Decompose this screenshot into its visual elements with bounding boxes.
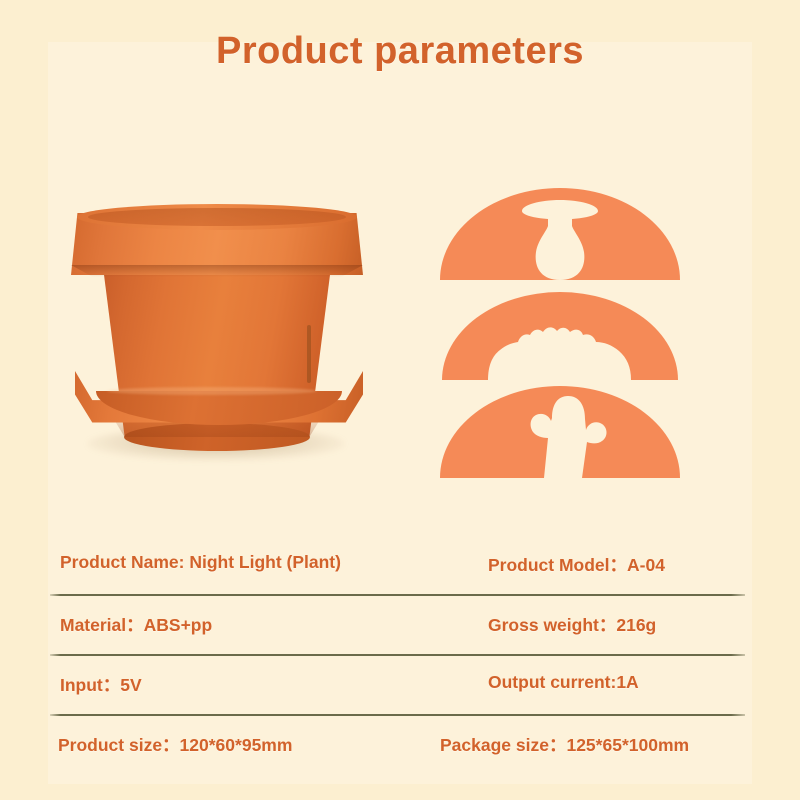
pot-rim-shadow — [71, 265, 363, 277]
table-row: Input：5V Output current:1A — [0, 656, 800, 716]
pot-saucer-highlight — [107, 387, 317, 395]
pot-interior-opening — [88, 208, 346, 226]
table-row: Product Name: Night Light (Plant) Produc… — [0, 536, 800, 596]
arch-cactus-plant — [440, 386, 680, 478]
table-row: Material：ABS+pp Gross weight：216g — [0, 596, 800, 656]
product-hero-section — [0, 150, 800, 520]
arch-mushroom-lamp — [440, 188, 680, 280]
spec-product-size: Product size：120*60*95mm — [58, 732, 292, 757]
page-title: Product parameters — [0, 30, 800, 73]
specifications-table: Product Name: Night Light (Plant) Produc… — [0, 536, 800, 776]
arch-silhouette-group — [430, 170, 690, 490]
pot-seam-detail — [307, 325, 311, 383]
spec-product-name: Product Name: Night Light (Plant) — [60, 552, 341, 573]
spec-output-current: Output current:1A — [488, 672, 639, 693]
spec-product-model: Product Model：A-04 — [488, 552, 665, 577]
flower-pot-product-photo — [55, 175, 385, 495]
table-row: Product size：120*60*95mm Package size：12… — [0, 716, 800, 776]
spec-package-size: Package size：125*65*100mm — [440, 732, 689, 757]
spec-gross-weight: Gross weight：216g — [488, 612, 656, 637]
spec-input: Input：5V — [60, 672, 142, 697]
product-parameters-page: Product parameters — [0, 0, 800, 800]
spec-material: Material：ABS+pp — [60, 612, 212, 637]
arch-wavy-plant — [442, 292, 678, 380]
